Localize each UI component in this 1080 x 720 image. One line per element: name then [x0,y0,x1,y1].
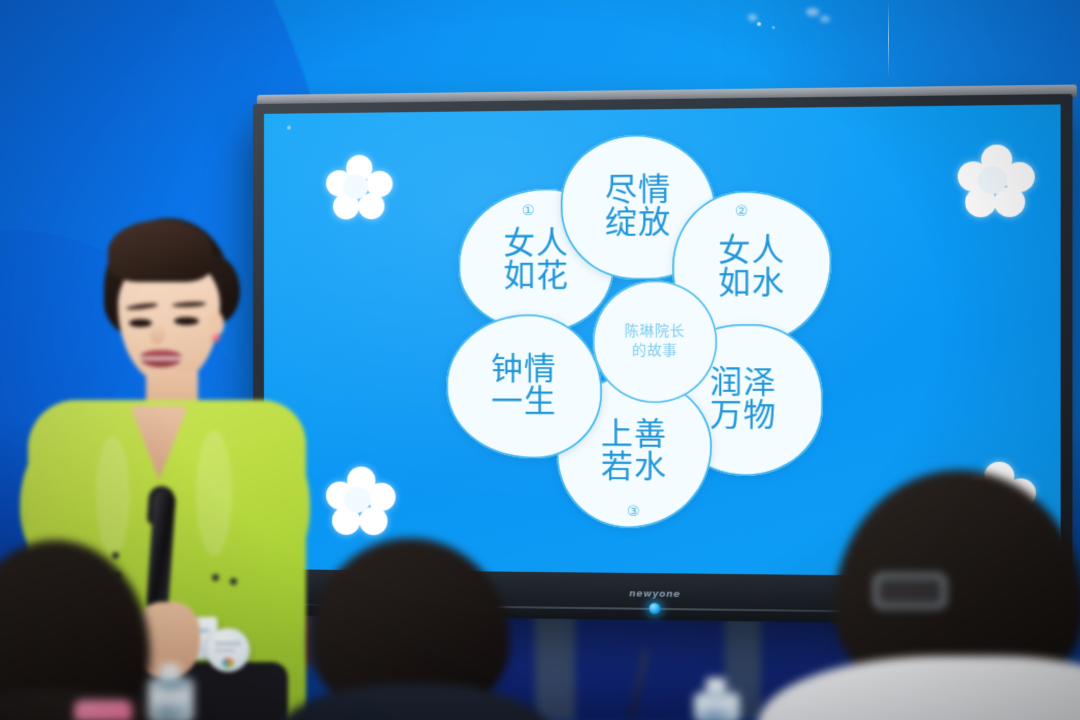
round-badge [206,628,250,672]
diagram-center-circle: 陈琳院长 的故事 [593,280,717,403]
presenter-eye-left [129,319,152,327]
petal-label-4: 润泽 万物 [710,367,777,432]
flower-top-left-icon [326,155,388,218]
presenter-ear [209,312,224,336]
petal-number-2: ② [735,203,748,219]
bokeh-speck [757,22,761,26]
petal-label-2: 尽情 绽放 [605,174,671,239]
petal-devoted-lifetime: 钟情 一生 [446,314,602,458]
presenter-ruffle-left [96,436,130,556]
eyeglasses-icon [874,574,946,608]
bokeh-speck [748,14,757,21]
display-sensor-dot [287,126,291,130]
table-panel-gap [535,612,575,720]
petal-label-5: 上善 若水 [601,419,667,484]
petal-label-6: 钟情 一生 [491,354,557,418]
presenter-earring [212,334,220,342]
display-brand-logo: newyone [629,589,680,600]
petal-number-3: ③ [627,503,640,519]
presenter-eye-right [174,317,199,325]
presenter-button [212,574,219,581]
badge-logo-icon [222,658,234,668]
presenter-mouth [140,350,182,367]
bokeh-speck [806,8,819,16]
attendee-right [800,470,1080,720]
petal-label-1: 女人 如花 [503,228,569,292]
bokeh-speck [820,16,830,22]
bokeh-speck [772,26,775,29]
display-power-led-icon [649,603,660,614]
attendee-center [300,538,530,720]
water-bottle-right [694,678,738,720]
pink-cup [74,700,132,720]
petal-label-3: 女人 如水 [718,235,785,300]
petal-number-1: ① [522,202,535,218]
flower-bottom-left-icon [326,466,393,533]
diagram-center-label: 陈琳院长 的故事 [624,322,685,361]
flower-top-right-icon [958,144,1031,215]
water-bottle-left [148,664,192,720]
backdrop-light-seam [888,0,889,78]
presenter-hair-front [108,220,212,282]
presenter-ruffle-right [196,430,232,556]
screenshot-stage: ① 女人 如花 尽情 绽放 ② 女人 如水 润泽 万物 [0,0,1080,720]
presenter-nose [150,324,165,344]
petal-diagram: ① 女人 如花 尽情 绽放 ② 女人 如水 润泽 万物 [454,140,858,542]
presenter-button [230,578,237,585]
